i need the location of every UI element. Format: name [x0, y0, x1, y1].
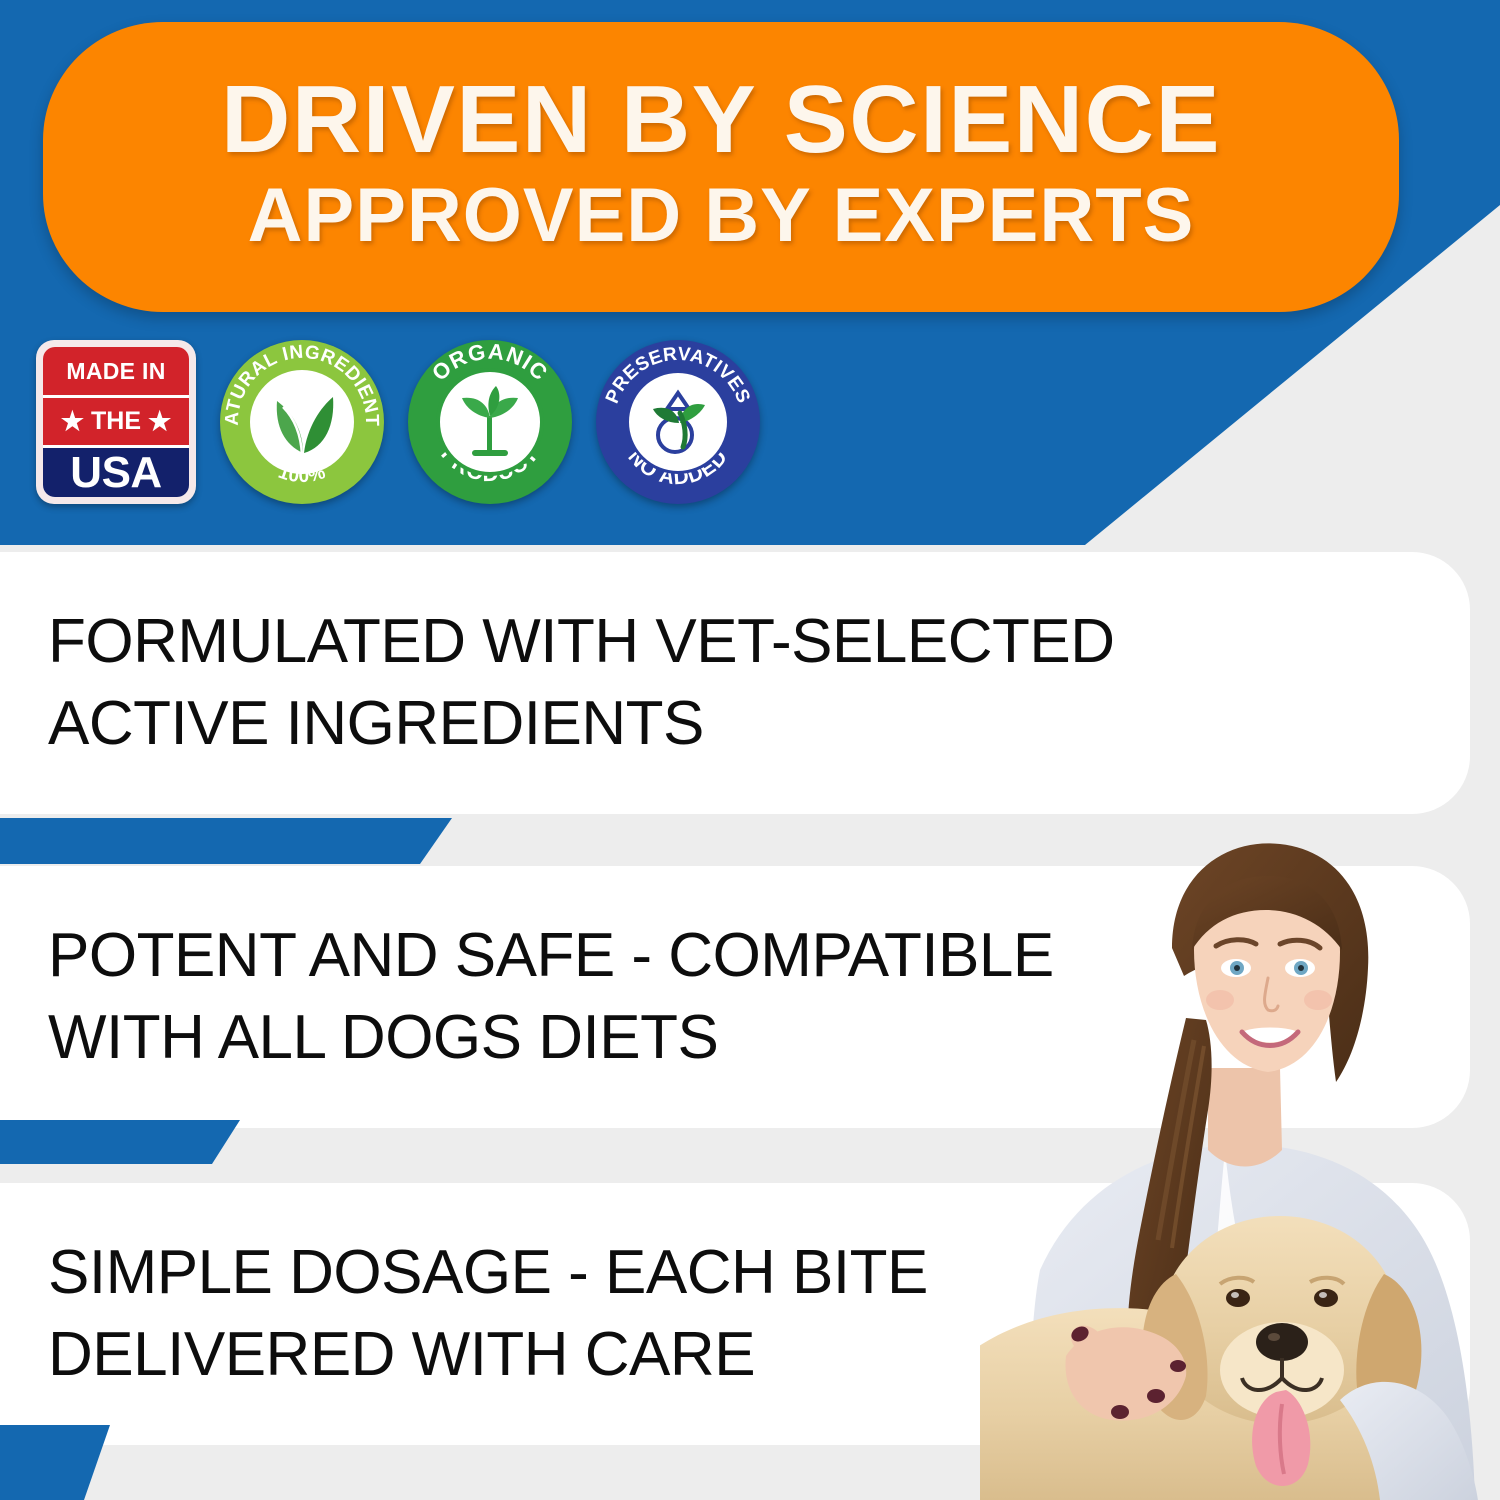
- badge-natural-ingredients: NATURAL INGREDIENTS 100%: [220, 340, 384, 504]
- badge-made-in-usa: MADE IN ★ THE ★ USA: [36, 340, 196, 504]
- badge-organic-product: ORGANIC PRODUCT: [408, 340, 572, 504]
- star-icon: ★: [61, 408, 84, 434]
- star-icon: ★: [148, 408, 171, 434]
- feature-card-vet-selected-ingredients: FORMULATED WITH VET-SELECTED ACTIVE INGR…: [0, 552, 1470, 814]
- feature-1-line-2: ACTIVE INGREDIENTS: [48, 683, 1470, 765]
- headline-primary: DRIVEN BY SCIENCE: [221, 71, 1221, 169]
- headline-banner: DRIVEN BY SCIENCE APPROVED BY EXPERTS: [43, 22, 1399, 312]
- vet-with-dog-photo: [980, 800, 1500, 1500]
- natural-seal-core: [250, 370, 354, 474]
- leaf-drop-icon: [639, 383, 717, 461]
- leaf-icon: [263, 383, 341, 461]
- organic-seal-core: [436, 368, 544, 476]
- trust-badge-row: MADE IN ★ THE ★ USA NATURAL INGRED: [36, 340, 760, 504]
- sprout-icon: [450, 382, 530, 462]
- headline-secondary: APPROVED BY EXPERTS: [248, 175, 1195, 257]
- usa-badge-line2-row: ★ THE ★: [43, 398, 189, 448]
- preservatives-seal-core: [626, 370, 730, 474]
- blue-accent-bar-3: [0, 1425, 110, 1500]
- usa-badge-line2: THE: [91, 407, 141, 436]
- usa-badge-line1: MADE IN: [43, 347, 189, 398]
- usa-badge-line3: USA: [43, 448, 189, 498]
- feature-1-line-1: FORMULATED WITH VET-SELECTED: [48, 601, 1470, 683]
- blue-accent-bar-2: [0, 1120, 240, 1164]
- blue-accent-bar-1: [0, 818, 452, 864]
- badge-no-added-preservatives: PRESERVATIVES NO ADDED: [596, 340, 760, 504]
- product-infographic: DRIVEN BY SCIENCE APPROVED BY EXPERTS MA…: [0, 0, 1500, 1500]
